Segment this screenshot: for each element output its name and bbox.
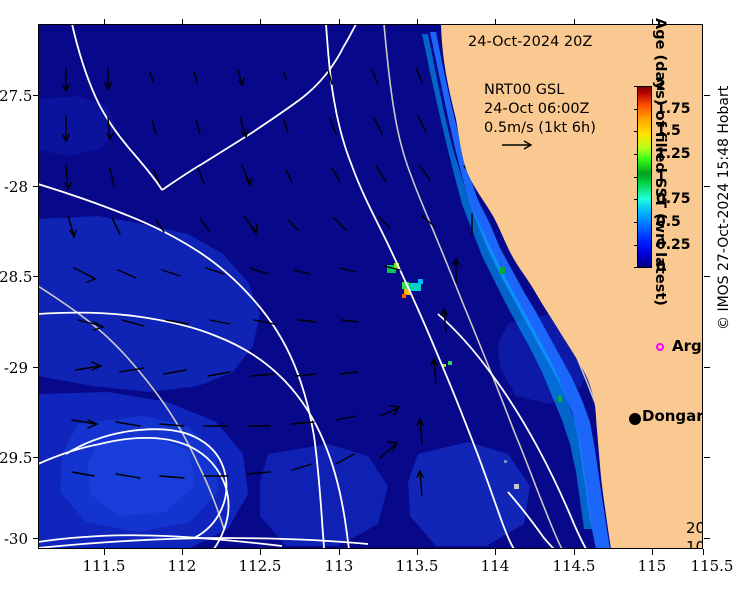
vector-scale-annotation: 0.5m/s (1kt 6h) xyxy=(484,120,596,136)
depth-legend-200m-label: 200m xyxy=(686,519,703,537)
land-mass xyxy=(38,24,703,549)
vector-scale-arrow xyxy=(500,138,536,152)
colorbar-title: Age (days) of filled SST (wrt latest) xyxy=(652,18,668,306)
argo-marker-icon xyxy=(656,343,664,351)
product-time-annotation: 24-Oct 06:00Z xyxy=(484,101,590,117)
map-plot-area[interactable]: 24-Oct-2024 20Z NRT00 GSL 24-Oct 06:00Z … xyxy=(38,24,703,549)
product-annotation: NRT00 GSL xyxy=(484,82,564,98)
depth-legend-1000m-label: 1000m xyxy=(686,538,703,549)
argo-legend-label: Argo xyxy=(672,337,703,355)
copyright-notice: © IMOS 27-Oct-2024 15:48 Hobart xyxy=(716,86,732,330)
sst-age-map-figure: 24-Oct-2024 20Z NRT00 GSL 24-Oct 06:00Z … xyxy=(0,0,740,592)
depth-contour-legend: 200m 1000m xyxy=(686,518,703,549)
colorbar[interactable]: 0 0.25 0.5 0.75 1 1.25 1.5 1.75 2 xyxy=(637,86,652,268)
timestamp-annotation: 24-Oct-2024 20Z xyxy=(468,34,592,50)
dongara-town-label: Dongara xyxy=(642,407,703,425)
dongara-marker-icon xyxy=(629,413,641,425)
colorbar-gradient xyxy=(637,86,652,268)
